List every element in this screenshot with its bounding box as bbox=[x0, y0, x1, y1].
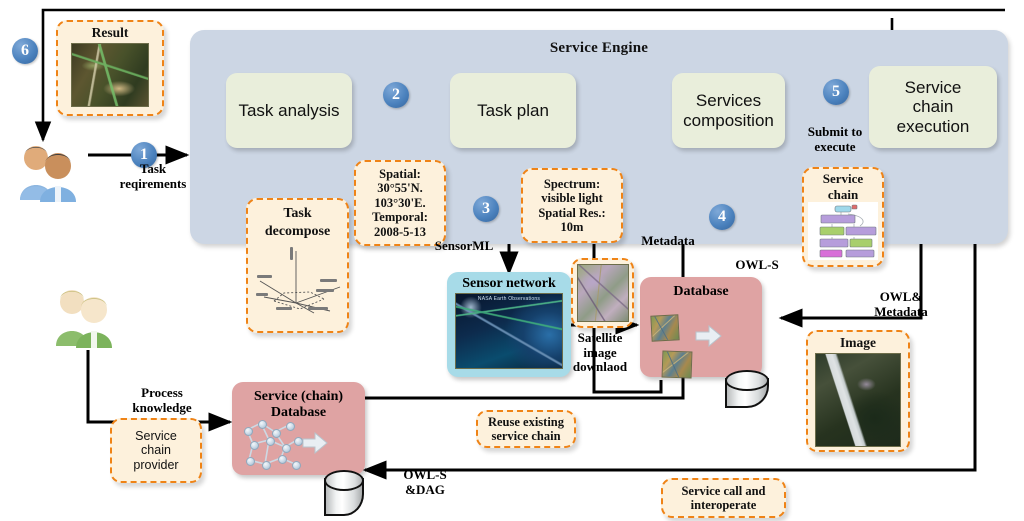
spatial-res-value: 10m bbox=[561, 220, 584, 235]
service-chain-execution-box[interactable]: Service chain execution bbox=[869, 66, 997, 148]
satellite-download-line2: image bbox=[563, 346, 637, 361]
step-badge-5: 5 bbox=[823, 79, 849, 105]
sensor-network-label: Sensor network bbox=[447, 276, 571, 292]
process-knowledge-label: Process knowledge bbox=[110, 386, 214, 415]
nasa-earth-observations-thumbnail: NASA Earth Observations bbox=[455, 293, 563, 369]
database-box[interactable]: Database bbox=[640, 277, 762, 377]
database-ingest-arrow-icon bbox=[695, 325, 722, 347]
step-4-number: 4 bbox=[718, 208, 726, 226]
satellite-download-line3: downlaod bbox=[563, 360, 637, 375]
task-decompose-callout[interactable]: Task decompose bbox=[246, 198, 349, 333]
spatial-lat: 30°55'N. bbox=[377, 181, 423, 196]
spectrum-callout[interactable]: Spectrum: visible light Spatial Res.: 10… bbox=[521, 168, 623, 243]
task-analysis-label: Task analysis bbox=[238, 101, 339, 120]
service-engine-title: Service Engine bbox=[190, 40, 1008, 57]
diagram-canvas: Service Engine Task analysis Task plan S… bbox=[0, 0, 1024, 521]
service-chain-flow-thumbnail bbox=[808, 202, 878, 260]
step-5-number: 5 bbox=[832, 83, 840, 101]
database-terrain-thumb-a bbox=[650, 314, 679, 341]
spatial-lon: 103°30'E. bbox=[374, 196, 425, 211]
service-call-line1: Service call and bbox=[681, 484, 765, 499]
process-knowledge-line1: Process bbox=[110, 386, 214, 401]
image-thumbnail bbox=[815, 353, 901, 447]
services-composition-label-line1: Services bbox=[696, 91, 761, 110]
spatial-temporal-callout[interactable]: Spatial: 30°55'N. 103°30'E. Temporal: 20… bbox=[354, 160, 446, 246]
task-decompose-label-line2: decompose bbox=[265, 224, 330, 240]
step-badge-3: 3 bbox=[473, 196, 499, 222]
task-plan-box[interactable]: Task plan bbox=[450, 73, 576, 148]
satellite-download-line1: Satellite bbox=[563, 331, 637, 346]
step-6-number: 6 bbox=[21, 42, 29, 60]
service-chain-label-line2: chain bbox=[828, 188, 858, 202]
service-chain-provider-avatar bbox=[48, 282, 124, 348]
result-label: Result bbox=[92, 25, 129, 41]
owl-s-dag-line2: &DAG bbox=[392, 483, 458, 498]
reuse-existing-line2: service chain bbox=[491, 429, 560, 444]
image-callout[interactable]: Image bbox=[806, 330, 910, 452]
service-call-line2: interoperate bbox=[691, 498, 757, 513]
service-chain-database-box[interactable]: Service (chain) Database bbox=[232, 382, 365, 475]
owl-metadata-label: OWL& Metadata bbox=[862, 290, 940, 319]
service-chain-callout[interactable]: Service chain bbox=[802, 167, 884, 267]
sensor-network-box[interactable]: Sensor network NASA Earth Observations bbox=[447, 272, 571, 377]
database-terrain-thumb-b bbox=[662, 350, 693, 378]
task-requirements-line1: Task bbox=[98, 162, 208, 177]
service-chain-db-ingest-arrow-icon bbox=[302, 432, 328, 454]
owl-s-label: OWL-S bbox=[726, 258, 788, 273]
services-composition-box[interactable]: Services composition bbox=[672, 73, 785, 148]
task-decompose-3d-axis-chart bbox=[254, 245, 342, 315]
service-chain-label-line1: Service bbox=[823, 172, 863, 186]
spectrum-value: visible light bbox=[541, 191, 602, 206]
step-badge-2: 2 bbox=[383, 82, 409, 108]
step-3-number: 3 bbox=[482, 200, 490, 218]
metadata-label: Metadata bbox=[633, 234, 703, 249]
end-users-avatar bbox=[12, 140, 88, 202]
database-label: Database bbox=[640, 284, 762, 300]
service-chain-provider-line3: provider bbox=[133, 458, 178, 473]
step-2-number: 2 bbox=[392, 86, 400, 104]
step-badge-4: 4 bbox=[709, 204, 735, 230]
owl-metadata-line2: Metadata bbox=[862, 305, 940, 320]
satellite-image-callout[interactable] bbox=[571, 258, 634, 328]
step-badge-6: 6 bbox=[12, 38, 38, 64]
spectrum-label: Spectrum: bbox=[544, 177, 600, 192]
spatial-res-label: Spatial Res.: bbox=[538, 206, 605, 221]
task-analysis-box[interactable]: Task analysis bbox=[226, 73, 352, 148]
service-chain-provider-line1: Service bbox=[135, 429, 177, 444]
temporal-label: Temporal: bbox=[372, 210, 428, 225]
satellite-image-thumbnail bbox=[577, 264, 629, 322]
owl-s-dag-label: OWL-S &DAG bbox=[392, 468, 458, 497]
temporal-value: 2008-5-13 bbox=[374, 225, 426, 240]
spatial-label: Spatial: bbox=[379, 167, 421, 182]
result-image-thumbnail bbox=[71, 43, 149, 107]
submit-to-execute-line2: execute bbox=[796, 140, 874, 155]
task-plan-label: Task plan bbox=[477, 101, 549, 120]
service-chain-database-label-line1: Service (chain) bbox=[232, 389, 365, 405]
process-knowledge-line2: knowledge bbox=[110, 401, 214, 416]
service-chain-db-cylinder-icon bbox=[324, 470, 364, 516]
sensorml-label: SensorML bbox=[424, 239, 504, 254]
service-chain-provider-callout[interactable]: Service chain provider bbox=[110, 418, 202, 483]
service-chain-execution-label-line2: chain bbox=[913, 97, 954, 116]
nasa-caption: NASA Earth Observations bbox=[456, 296, 562, 302]
service-chain-database-label-line2: Database bbox=[232, 405, 365, 421]
service-call-interoperate-callout[interactable]: Service call and interoperate bbox=[661, 478, 786, 518]
service-chain-provider-line2: chain bbox=[141, 443, 171, 458]
owl-metadata-line1: OWL& bbox=[862, 290, 940, 305]
service-chain-execution-label-line1: Service bbox=[905, 78, 962, 97]
services-composition-label-line2: composition bbox=[683, 111, 774, 130]
owl-s-dag-line1: OWL-S bbox=[392, 468, 458, 483]
service-graph-icon bbox=[241, 420, 303, 470]
task-requirements-label: Task reqirements bbox=[98, 162, 208, 191]
submit-to-execute-label: Submit to execute bbox=[796, 125, 874, 154]
submit-to-execute-line1: Submit to bbox=[796, 125, 874, 140]
task-requirements-line2: reqirements bbox=[98, 177, 208, 192]
task-decompose-label-line1: Task bbox=[283, 206, 311, 222]
reuse-existing-line1: Reuse existing bbox=[488, 415, 564, 430]
reuse-existing-service-chain-callout[interactable]: Reuse existing service chain bbox=[476, 410, 576, 448]
result-callout[interactable]: Result bbox=[56, 20, 164, 116]
database-cylinder-icon bbox=[725, 370, 769, 408]
service-chain-execution-label-line3: execution bbox=[897, 117, 970, 136]
satellite-image-download-label: Satellite image downlaod bbox=[563, 331, 637, 375]
image-label: Image bbox=[840, 335, 876, 351]
